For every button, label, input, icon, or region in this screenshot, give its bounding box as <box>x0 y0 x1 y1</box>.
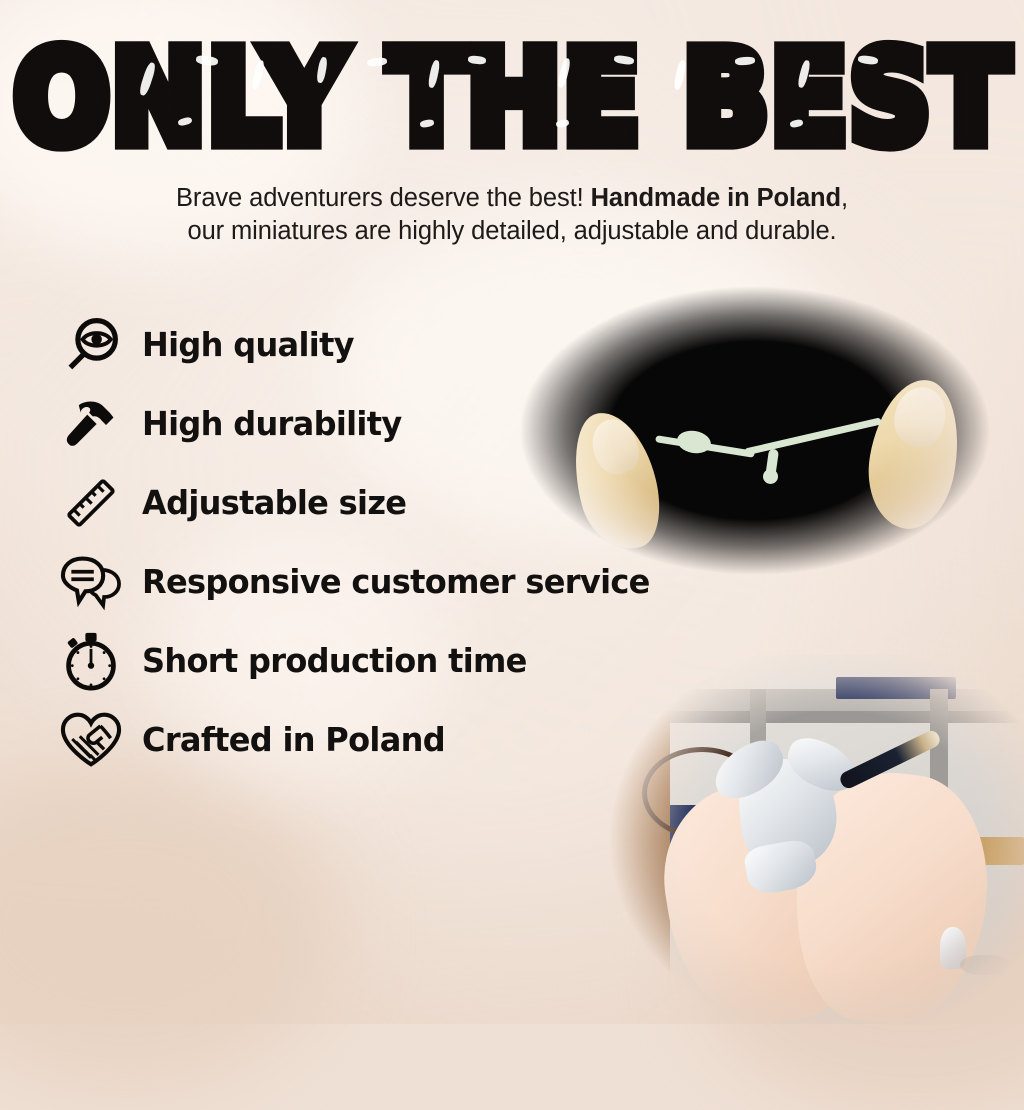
speech-bubbles-icon <box>58 551 124 613</box>
edge-speck-5 <box>625 301 695 323</box>
feature-label: Short production time <box>142 641 527 680</box>
subtitle-line-1-tail: , <box>841 184 848 212</box>
miniature-part-tip <box>763 469 778 484</box>
feature-label: High durability <box>142 404 402 443</box>
subtitle-line-1-lead: Brave adventurers deserve the best! <box>176 184 591 212</box>
ruler-icon <box>58 472 124 534</box>
photo-torn-mask <box>505 283 1005 578</box>
hammer-icon <box>58 393 124 455</box>
feature-label: Crafted in Poland <box>142 720 445 759</box>
subtitle-line-1: Brave adventurers deserve the best! Hand… <box>0 182 1024 215</box>
edge-speck-1 <box>529 335 563 355</box>
photo-painting-workshop <box>600 655 1024 1024</box>
subtitle-line-2: our miniatures are highly detailed, adju… <box>0 215 1024 248</box>
edge-speck-4 <box>705 551 765 569</box>
edge-speck-b3 <box>960 955 1010 975</box>
edge-speck-b1 <box>654 669 710 687</box>
page-title: ONLY THE BEST <box>0 36 1024 144</box>
magnifier-eye-icon <box>58 314 124 376</box>
photo-torn-mask-2 <box>600 655 1024 1024</box>
edge-speck-3 <box>945 353 975 375</box>
subtitle: Brave adventurers deserve the best! Hand… <box>0 182 1024 248</box>
edge-speck-b2 <box>616 985 676 1005</box>
stopwatch-icon <box>58 630 124 692</box>
feature-label: Adjustable size <box>142 483 406 522</box>
edge-speck-2 <box>513 433 537 459</box>
handshake-heart-icon <box>58 709 124 771</box>
feature-label: High quality <box>142 325 354 364</box>
photo-flexible-miniature <box>505 283 1005 578</box>
subtitle-highlight: Handmade in Poland <box>591 184 841 212</box>
page-title-text: ONLY THE BEST <box>13 36 1010 163</box>
shelf-rack-mid <box>660 711 1024 723</box>
